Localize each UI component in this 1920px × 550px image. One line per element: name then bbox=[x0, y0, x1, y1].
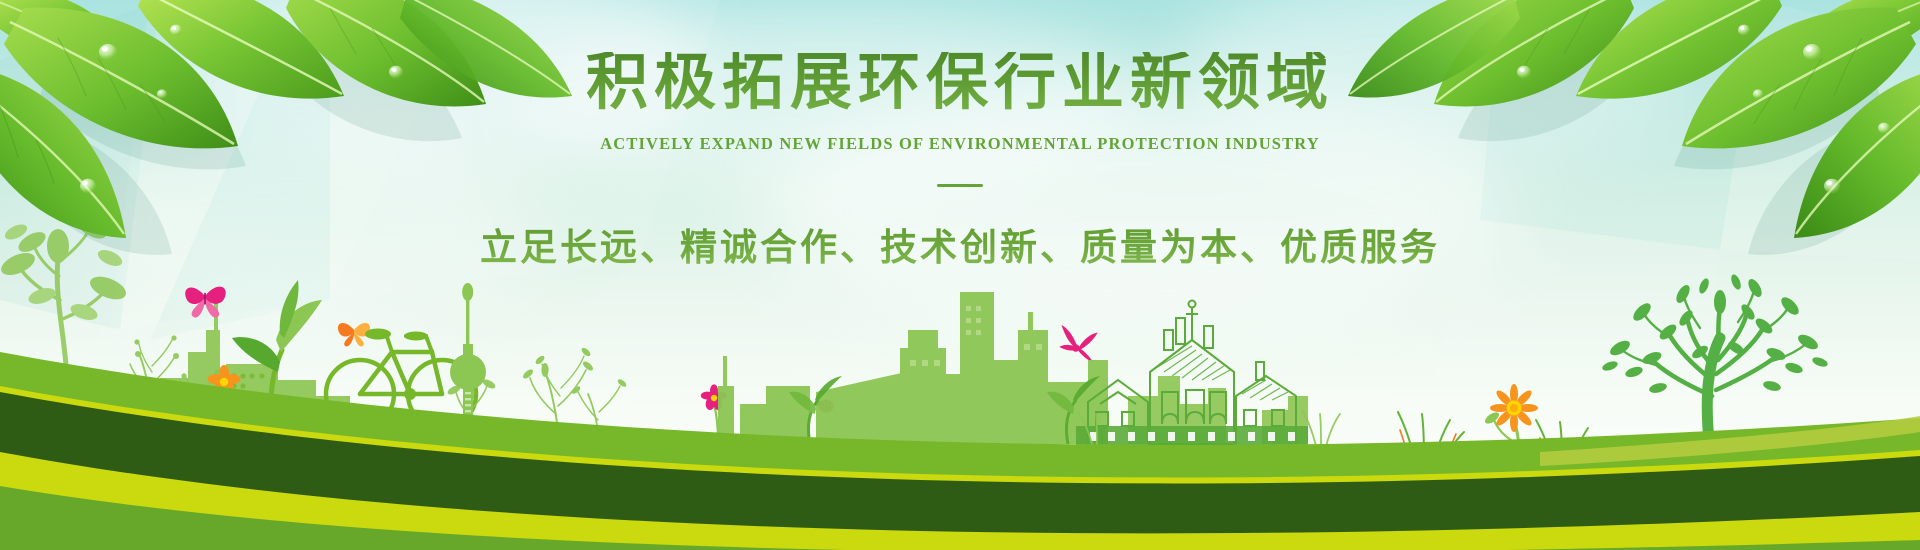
leaves-top-left bbox=[0, 0, 572, 255]
leaf-overlay bbox=[0, 0, 1920, 550]
eco-banner: 积极拓展环保行业新领域 ACTIVELY EXPAND NEW FIELDS O… bbox=[0, 0, 1920, 550]
leaves-top-right bbox=[1348, 0, 1920, 255]
